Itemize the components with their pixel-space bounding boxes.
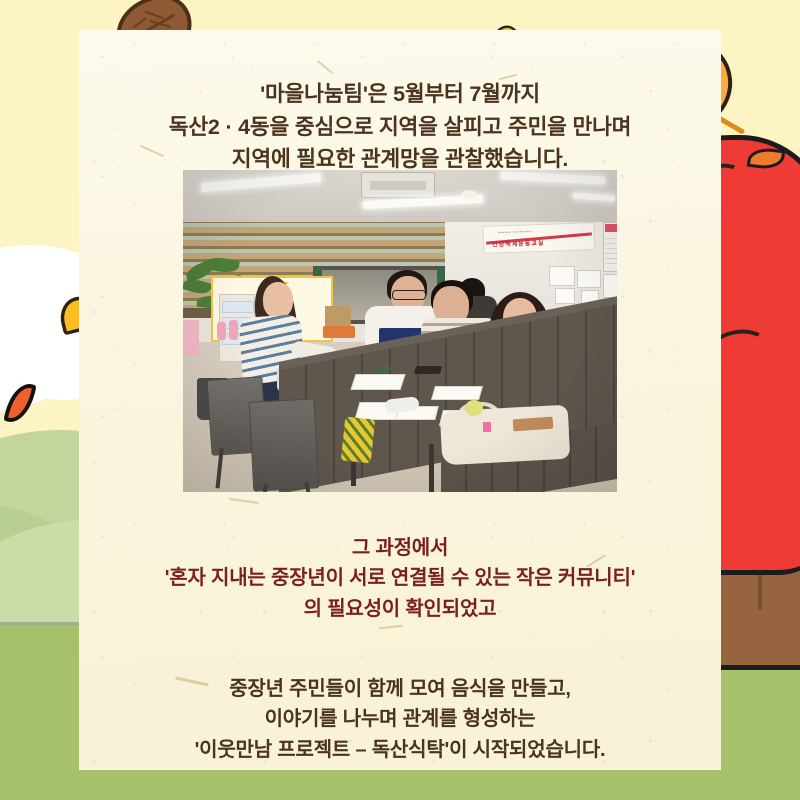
leaf-vein xyxy=(132,18,146,29)
top-text-block: '마을나눔팀'은 5월부터 7월까지 독산2 · 4동을 중심으로 지역을 살피… xyxy=(79,78,721,176)
photo-vignette xyxy=(183,170,617,492)
bottom-text-line-3: '이웃만남 프로젝트 – 독산식탁'이 시작되었습니다. xyxy=(79,735,721,765)
middle-text-line-2: '혼자 지내는 중장년이 서로 연결될 수 있는 작은 커뮤니티' xyxy=(79,563,721,593)
poster-canvas: '마을나눔팀'은 5월부터 7월까지 독산2 · 4동을 중심으로 지역을 살피… xyxy=(0,0,800,800)
top-text-line-2: 독산2 · 4동을 중심으로 지역을 살피고 주민을 만나며 xyxy=(79,111,721,144)
bottom-text-line-1: 중장년 주민들이 함께 모여 음식을 만들고, xyxy=(79,674,721,704)
paper-fiber xyxy=(229,498,259,504)
leaf-vein xyxy=(144,10,163,19)
middle-text-line-1: 그 과정에서 xyxy=(79,533,721,563)
paper-fiber xyxy=(317,60,334,74)
middle-text-block: 그 과정에서 '혼자 지내는 중장년이 서로 연결될 수 있는 작은 커뮤니티'… xyxy=(79,533,721,624)
top-text-line-1: '마을나눔팀'은 5월부터 7월까지 xyxy=(79,78,721,111)
bottom-text-block: 중장년 주민들이 함께 모여 음식을 만들고, 이야기를 나누며 관계를 형성하… xyxy=(79,674,721,765)
paper-fiber xyxy=(379,625,403,629)
middle-text-line-3: 의 필요성이 확인되었고 xyxy=(79,594,721,624)
bottom-text-line-2: 이야기를 나누며 관계를 형성하는 xyxy=(79,704,721,734)
tree-trunk-line xyxy=(758,570,762,610)
meeting-photo: ●●●●●● ●●●●●●●● 건강백세운동교실 xyxy=(183,170,617,492)
